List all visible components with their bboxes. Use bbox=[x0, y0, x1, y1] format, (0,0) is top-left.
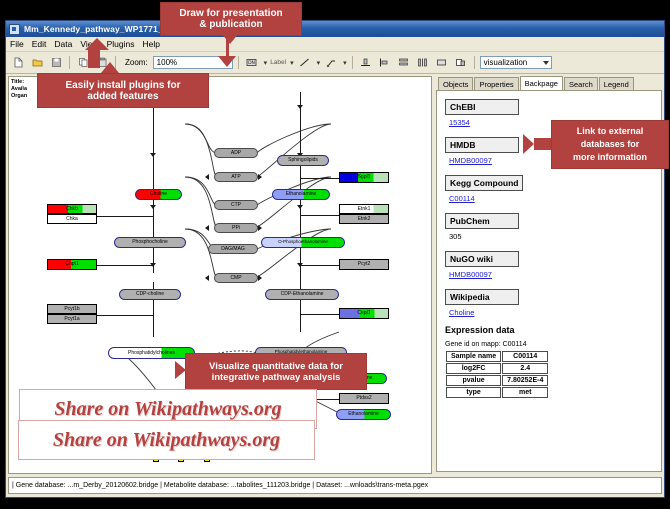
callout-plugins-arrow bbox=[85, 38, 109, 50]
node-label: Ethanolamine bbox=[286, 192, 317, 197]
node-label: Chka bbox=[66, 217, 78, 222]
callout-plugins-line1: Easily install plugins for bbox=[65, 80, 180, 91]
cell-key: pvalue bbox=[446, 375, 501, 386]
title-bar: Mm_Kennedy_pathway_WP1771_45176.gpml bbox=[6, 21, 664, 37]
callout-plugins-line2: added features bbox=[87, 91, 158, 102]
arrowhead-atp bbox=[205, 174, 209, 180]
node-label: CMP bbox=[230, 276, 241, 281]
side-panel-tabs: Objects Properties Backpage Search Legen… bbox=[434, 76, 662, 90]
gene-id-on-mapp: Gene id on mapp: C00114 bbox=[445, 341, 653, 348]
node-adp[interactable]: ADP bbox=[214, 148, 258, 158]
callout-link-arrow bbox=[523, 134, 534, 154]
menu-item-help[interactable]: Help bbox=[143, 39, 160, 49]
db-link-wikipedia[interactable]: Choline bbox=[449, 308, 653, 317]
order-icon[interactable] bbox=[453, 55, 469, 71]
callout-draw: Draw for presentation & publication bbox=[160, 2, 302, 36]
line-icon[interactable] bbox=[297, 55, 313, 71]
align-left-icon[interactable] bbox=[377, 55, 393, 71]
interaction-icon[interactable] bbox=[323, 55, 339, 71]
callout-plugins-stem bbox=[88, 48, 100, 68]
node-label: Pcyt1a bbox=[64, 317, 79, 322]
align-top-icon[interactable] bbox=[358, 55, 374, 71]
gene-connector-sgpl1 bbox=[300, 178, 339, 179]
gene-connector-pcyt2 bbox=[300, 265, 339, 266]
stack-icon[interactable] bbox=[396, 55, 412, 71]
gene-box-pcyt1a[interactable]: Pcyt1a bbox=[47, 314, 97, 324]
gene-box-chka[interactable]: Chka bbox=[47, 214, 97, 224]
callout-visualize-arrow bbox=[196, 367, 207, 387]
zoom-value: 100% bbox=[157, 58, 177, 67]
gene-connector-chpt1 bbox=[97, 265, 154, 266]
node-label: Choline bbox=[150, 192, 167, 197]
arrowhead-etn-1 bbox=[297, 105, 303, 109]
interaction-dropdown-icon[interactable]: ▾ bbox=[343, 59, 347, 67]
group-icon[interactable] bbox=[434, 55, 450, 71]
db-header-hmdb: HMDB bbox=[445, 137, 519, 153]
callout-plugins-tip bbox=[101, 62, 119, 73]
cell-value: C00114 bbox=[502, 351, 548, 362]
toolbar-separator bbox=[69, 56, 70, 69]
node-sphingolipids[interactable]: Sphingolipids bbox=[277, 155, 329, 166]
node-choline-top[interactable]: Choline bbox=[135, 189, 182, 200]
node-ethanolamine[interactable]: Ethanolamine bbox=[272, 189, 330, 200]
save-icon[interactable] bbox=[48, 55, 64, 71]
status-bar: | Gene database: ...m_Derby_20120602.bri… bbox=[8, 477, 662, 494]
gene-box-pcyt1b[interactable]: Pcyt1b bbox=[47, 304, 97, 314]
share-banner-text: Share on Wikipathways.org bbox=[54, 398, 281, 421]
db-value-pubchem: 305 bbox=[449, 232, 653, 241]
meta-title: Title: bbox=[11, 79, 27, 86]
arrowhead-etn-3 bbox=[297, 205, 303, 209]
meta-organism: Organ bbox=[11, 93, 27, 100]
node-ethanolamine-right[interactable]: Ethanolamine bbox=[336, 409, 391, 420]
pathway-app-icon bbox=[9, 24, 20, 35]
cell-value: met bbox=[502, 387, 548, 398]
expression-data-header: Expression data bbox=[445, 325, 653, 335]
cell-value: 2.4 bbox=[502, 363, 548, 374]
distribute-icon[interactable] bbox=[415, 55, 431, 71]
open-folder-icon[interactable] bbox=[29, 55, 45, 71]
node-label: CDP-choline bbox=[136, 292, 164, 297]
node-atp[interactable]: ATP bbox=[214, 172, 258, 182]
db-header-chebi: ChEBI bbox=[445, 99, 519, 115]
tab-properties[interactable]: Properties bbox=[474, 77, 518, 90]
table-row: pvalue 7.80252E-4 bbox=[446, 375, 548, 386]
node-label: Chkb bbox=[66, 207, 78, 212]
callout-link-line3: more information bbox=[573, 151, 647, 164]
node-label: Etnk1 bbox=[358, 207, 371, 212]
node-label: DAG/MAG bbox=[221, 247, 245, 252]
db-header-kegg: Kegg Compound bbox=[445, 175, 523, 191]
callout-draw-line2: & publication bbox=[199, 19, 262, 30]
arrowhead-atp-r bbox=[258, 174, 262, 180]
callout-visualize-line2: integrative pathway analysis bbox=[212, 372, 341, 383]
gene-connector-pcyt1 bbox=[97, 315, 154, 316]
datanode-icon[interactable]: DN bbox=[244, 55, 260, 71]
zoom-label: Zoom: bbox=[125, 58, 148, 67]
gene-box-ptdss2[interactable]: Ptdss2 bbox=[339, 393, 389, 404]
arrowhead-ppi-r bbox=[258, 225, 262, 231]
callout-visualize: Visualize quantitative data for integrat… bbox=[185, 353, 367, 390]
node-dag-mag[interactable]: DAG/MAG bbox=[208, 244, 258, 254]
visualization-combobox[interactable]: visualization bbox=[480, 56, 552, 69]
toolbar-separator-4 bbox=[352, 56, 353, 69]
callout-draw-tip2 bbox=[218, 56, 236, 67]
toolbar-separator-5 bbox=[474, 56, 475, 69]
node-label: Pcyt2 bbox=[358, 262, 371, 267]
pathway-canvas[interactable]: Title: Availa Organ bbox=[8, 76, 432, 474]
expression-data-table: Sample name C00114 log2FC 2.4 pvalue 7.8… bbox=[445, 350, 549, 399]
node-label: O-Phosphoethanolamine bbox=[278, 240, 328, 245]
arrowhead-cmp-r bbox=[258, 275, 262, 281]
gene-box-chkb[interactable]: Chkb bbox=[47, 204, 97, 214]
table-row: log2FC 2.4 bbox=[446, 363, 548, 374]
node-o-phosphoethanolamine[interactable]: O-Phosphoethanolamine bbox=[261, 237, 345, 248]
node-cdp-ethanolamine[interactable]: CDP-Ethanolamine bbox=[265, 289, 339, 300]
gene-box-pcyt2[interactable]: Pcyt2 bbox=[339, 259, 389, 270]
pathway-metadata: Title: Availa Organ bbox=[11, 79, 27, 100]
cell-key: type bbox=[446, 387, 501, 398]
toolbar-separator-3 bbox=[238, 56, 239, 69]
node-label: Ptdss2 bbox=[356, 396, 371, 401]
node-label: Etnk2 bbox=[358, 217, 371, 222]
cell-value: 7.80252E-4 bbox=[502, 375, 548, 386]
gene-box-etnk2[interactable]: Etnk2 bbox=[339, 214, 389, 224]
node-label: CDP-Ethanolamine bbox=[281, 292, 324, 297]
visualization-value: visualization bbox=[484, 58, 528, 67]
screenshot-root: Mm_Kennedy_pathway_WP1771_45176.gpml Fil… bbox=[0, 0, 670, 509]
db-header-pubchem: PubChem bbox=[445, 213, 519, 229]
tab-backpage[interactable]: Backpage bbox=[520, 76, 563, 90]
node-cmp[interactable]: CMP bbox=[214, 273, 258, 283]
arrowhead-choline-1 bbox=[150, 153, 156, 157]
gene-connector-cept1 bbox=[300, 314, 339, 315]
node-label: Cept1 bbox=[357, 311, 370, 316]
db-link-kegg[interactable]: C00114 bbox=[449, 194, 653, 203]
node-ppi[interactable]: PPi bbox=[214, 223, 258, 233]
callout-visualize-line1: Visualize quantitative data for bbox=[209, 361, 343, 372]
gene-connector-etnk bbox=[300, 215, 339, 216]
node-ctp[interactable]: CTP bbox=[214, 200, 258, 210]
menu-item-data[interactable]: Data bbox=[54, 39, 72, 49]
gene-connector-chk bbox=[97, 216, 154, 217]
callout-external-links: Link to external databases for more info… bbox=[551, 120, 669, 169]
arrowhead-cmp bbox=[205, 275, 209, 281]
db-link-nugowiki[interactable]: HMDB00097 bbox=[449, 270, 653, 279]
node-label: Pcyt1b bbox=[64, 307, 79, 312]
share-banner-outer: Share on Wikipathways.org bbox=[18, 420, 315, 460]
gene-box-cept1[interactable]: Cept1 bbox=[339, 308, 389, 319]
callout-link-line1: Link to external bbox=[577, 125, 644, 138]
node-label: Ethanolamine bbox=[348, 412, 379, 417]
status-bar-text: | Gene database: ...m_Derby_20120602.bri… bbox=[12, 482, 428, 489]
share-banner-outer-text: Share on Wikipathways.org bbox=[53, 429, 280, 452]
node-label: Phosphocholine bbox=[132, 240, 168, 245]
tab-search[interactable]: Search bbox=[564, 77, 598, 90]
node-label: ATP bbox=[231, 175, 240, 180]
node-phosphatidylcholines[interactable]: Phosphatidylcholines bbox=[108, 347, 195, 359]
arrowhead-choline-2 bbox=[150, 205, 156, 209]
callout-link-line2: databases for bbox=[581, 138, 640, 151]
node-phosphocholine[interactable]: Phosphocholine bbox=[114, 237, 186, 248]
table-row: type met bbox=[446, 387, 548, 398]
label-dropdown-icon[interactable]: ▾ bbox=[290, 59, 294, 67]
menu-item-file[interactable]: File bbox=[10, 39, 24, 49]
callout-plugins: Easily install plugins for added feature… bbox=[37, 73, 209, 108]
db-header-wikipedia: Wikipedia bbox=[445, 289, 519, 305]
arrowhead-ppi bbox=[205, 225, 209, 231]
menu-item-edit[interactable]: Edit bbox=[32, 39, 47, 49]
menu-item-plugins[interactable]: Plugins bbox=[107, 39, 135, 49]
tab-legend[interactable]: Legend bbox=[599, 77, 634, 90]
new-file-icon[interactable] bbox=[10, 55, 26, 71]
node-label: Sgpl1 bbox=[358, 175, 371, 180]
gene-box-etnk1[interactable]: Etnk1 bbox=[339, 204, 389, 214]
node-label: ADP bbox=[231, 151, 241, 156]
node-label: Chpt1 bbox=[65, 262, 78, 267]
cell-key: log2FC bbox=[446, 363, 501, 374]
callout-draw-tip bbox=[221, 33, 239, 44]
line-dropdown-icon[interactable]: ▾ bbox=[317, 59, 321, 67]
node-label: Phosphatidylcholines bbox=[128, 351, 175, 356]
meta-availability: Availa bbox=[11, 86, 27, 93]
tab-objects[interactable]: Objects bbox=[438, 77, 473, 90]
node-label: PPi bbox=[232, 226, 240, 231]
node-label: Sphingolipids bbox=[288, 158, 318, 163]
chevron-down-icon-2 bbox=[543, 61, 549, 65]
label-tool-text[interactable]: Label bbox=[270, 59, 286, 66]
node-cdp-choline[interactable]: CDP-choline bbox=[119, 289, 181, 300]
cell-key: Sample name bbox=[446, 351, 501, 362]
gene-box-chpt1[interactable]: Chpt1 bbox=[47, 259, 97, 270]
svg-text:DN: DN bbox=[248, 60, 255, 66]
node-label: CTP bbox=[231, 203, 241, 208]
datanode-dropdown-icon[interactable]: ▾ bbox=[264, 59, 268, 67]
callout-draw-line1: Draw for presentation bbox=[179, 8, 282, 19]
table-row: Sample name C00114 bbox=[446, 351, 548, 362]
gene-box-sgpl1[interactable]: Sgpl1 bbox=[339, 172, 389, 183]
db-header-nugowiki: NuGO wiki bbox=[445, 251, 519, 267]
callout-visualize-tip bbox=[175, 361, 186, 379]
